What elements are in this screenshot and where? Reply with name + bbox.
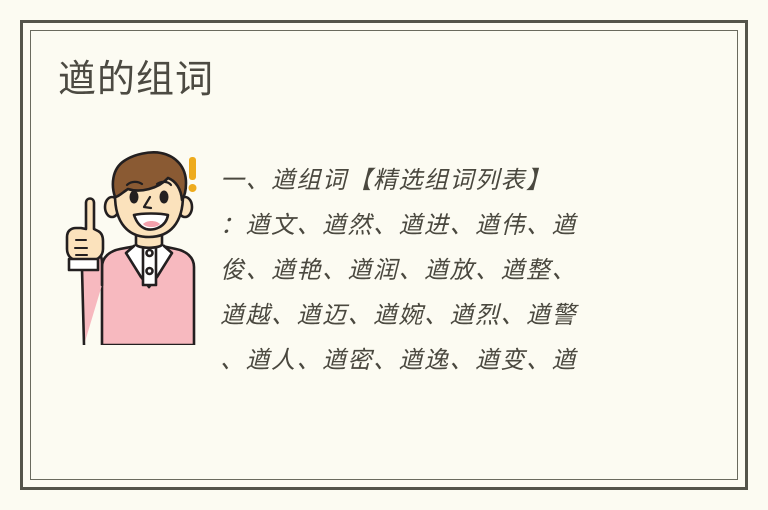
text-line-2-content: ：遒文、遒然、遒进、遒伟、遒	[220, 203, 577, 248]
content-area: 遒的组词	[30, 30, 738, 480]
text-line-1: 一、遒组词【精选组词列表】	[220, 158, 645, 203]
text-line-4: 遒越、遒迈、遒婉、遒烈、遒警	[220, 293, 645, 338]
exclamation-icon	[189, 157, 197, 192]
button-bottom	[147, 268, 153, 274]
page-root: 遒的组词	[0, 0, 768, 510]
eye-right	[160, 191, 169, 204]
text-line-1-content: 一、遒组词【精选组词列表】	[220, 158, 552, 203]
text-line-3-content: 俊、遒艳、遒润、遒放、遒整、	[220, 248, 577, 293]
text-line-5-content: 、遒人、遒密、遒逸、遒变、遒	[220, 338, 577, 383]
page-title: 遒的组词	[58, 57, 214, 103]
cuff	[69, 259, 98, 270]
hand	[67, 199, 103, 262]
eye-left	[130, 191, 139, 204]
word-list-text: 一、遒组词【精选组词列表】 ：遒文、遒然、遒进、遒伟、遒 俊、遒艳、遒润、遒放、…	[220, 158, 645, 383]
text-line-2: ：遒文、遒然、遒进、遒伟、遒	[220, 203, 645, 248]
text-line-5: 、遒人、遒密、遒逸、遒变、遒	[220, 338, 645, 383]
text-line-4-content: 遒越、遒迈、遒婉、遒烈、遒警	[220, 293, 577, 338]
button-top	[147, 250, 153, 256]
text-line-3: 俊、遒艳、遒润、遒放、遒整、	[220, 248, 645, 293]
boy-pointing-up-illustration	[58, 145, 222, 345]
illustration-svg	[58, 145, 222, 345]
